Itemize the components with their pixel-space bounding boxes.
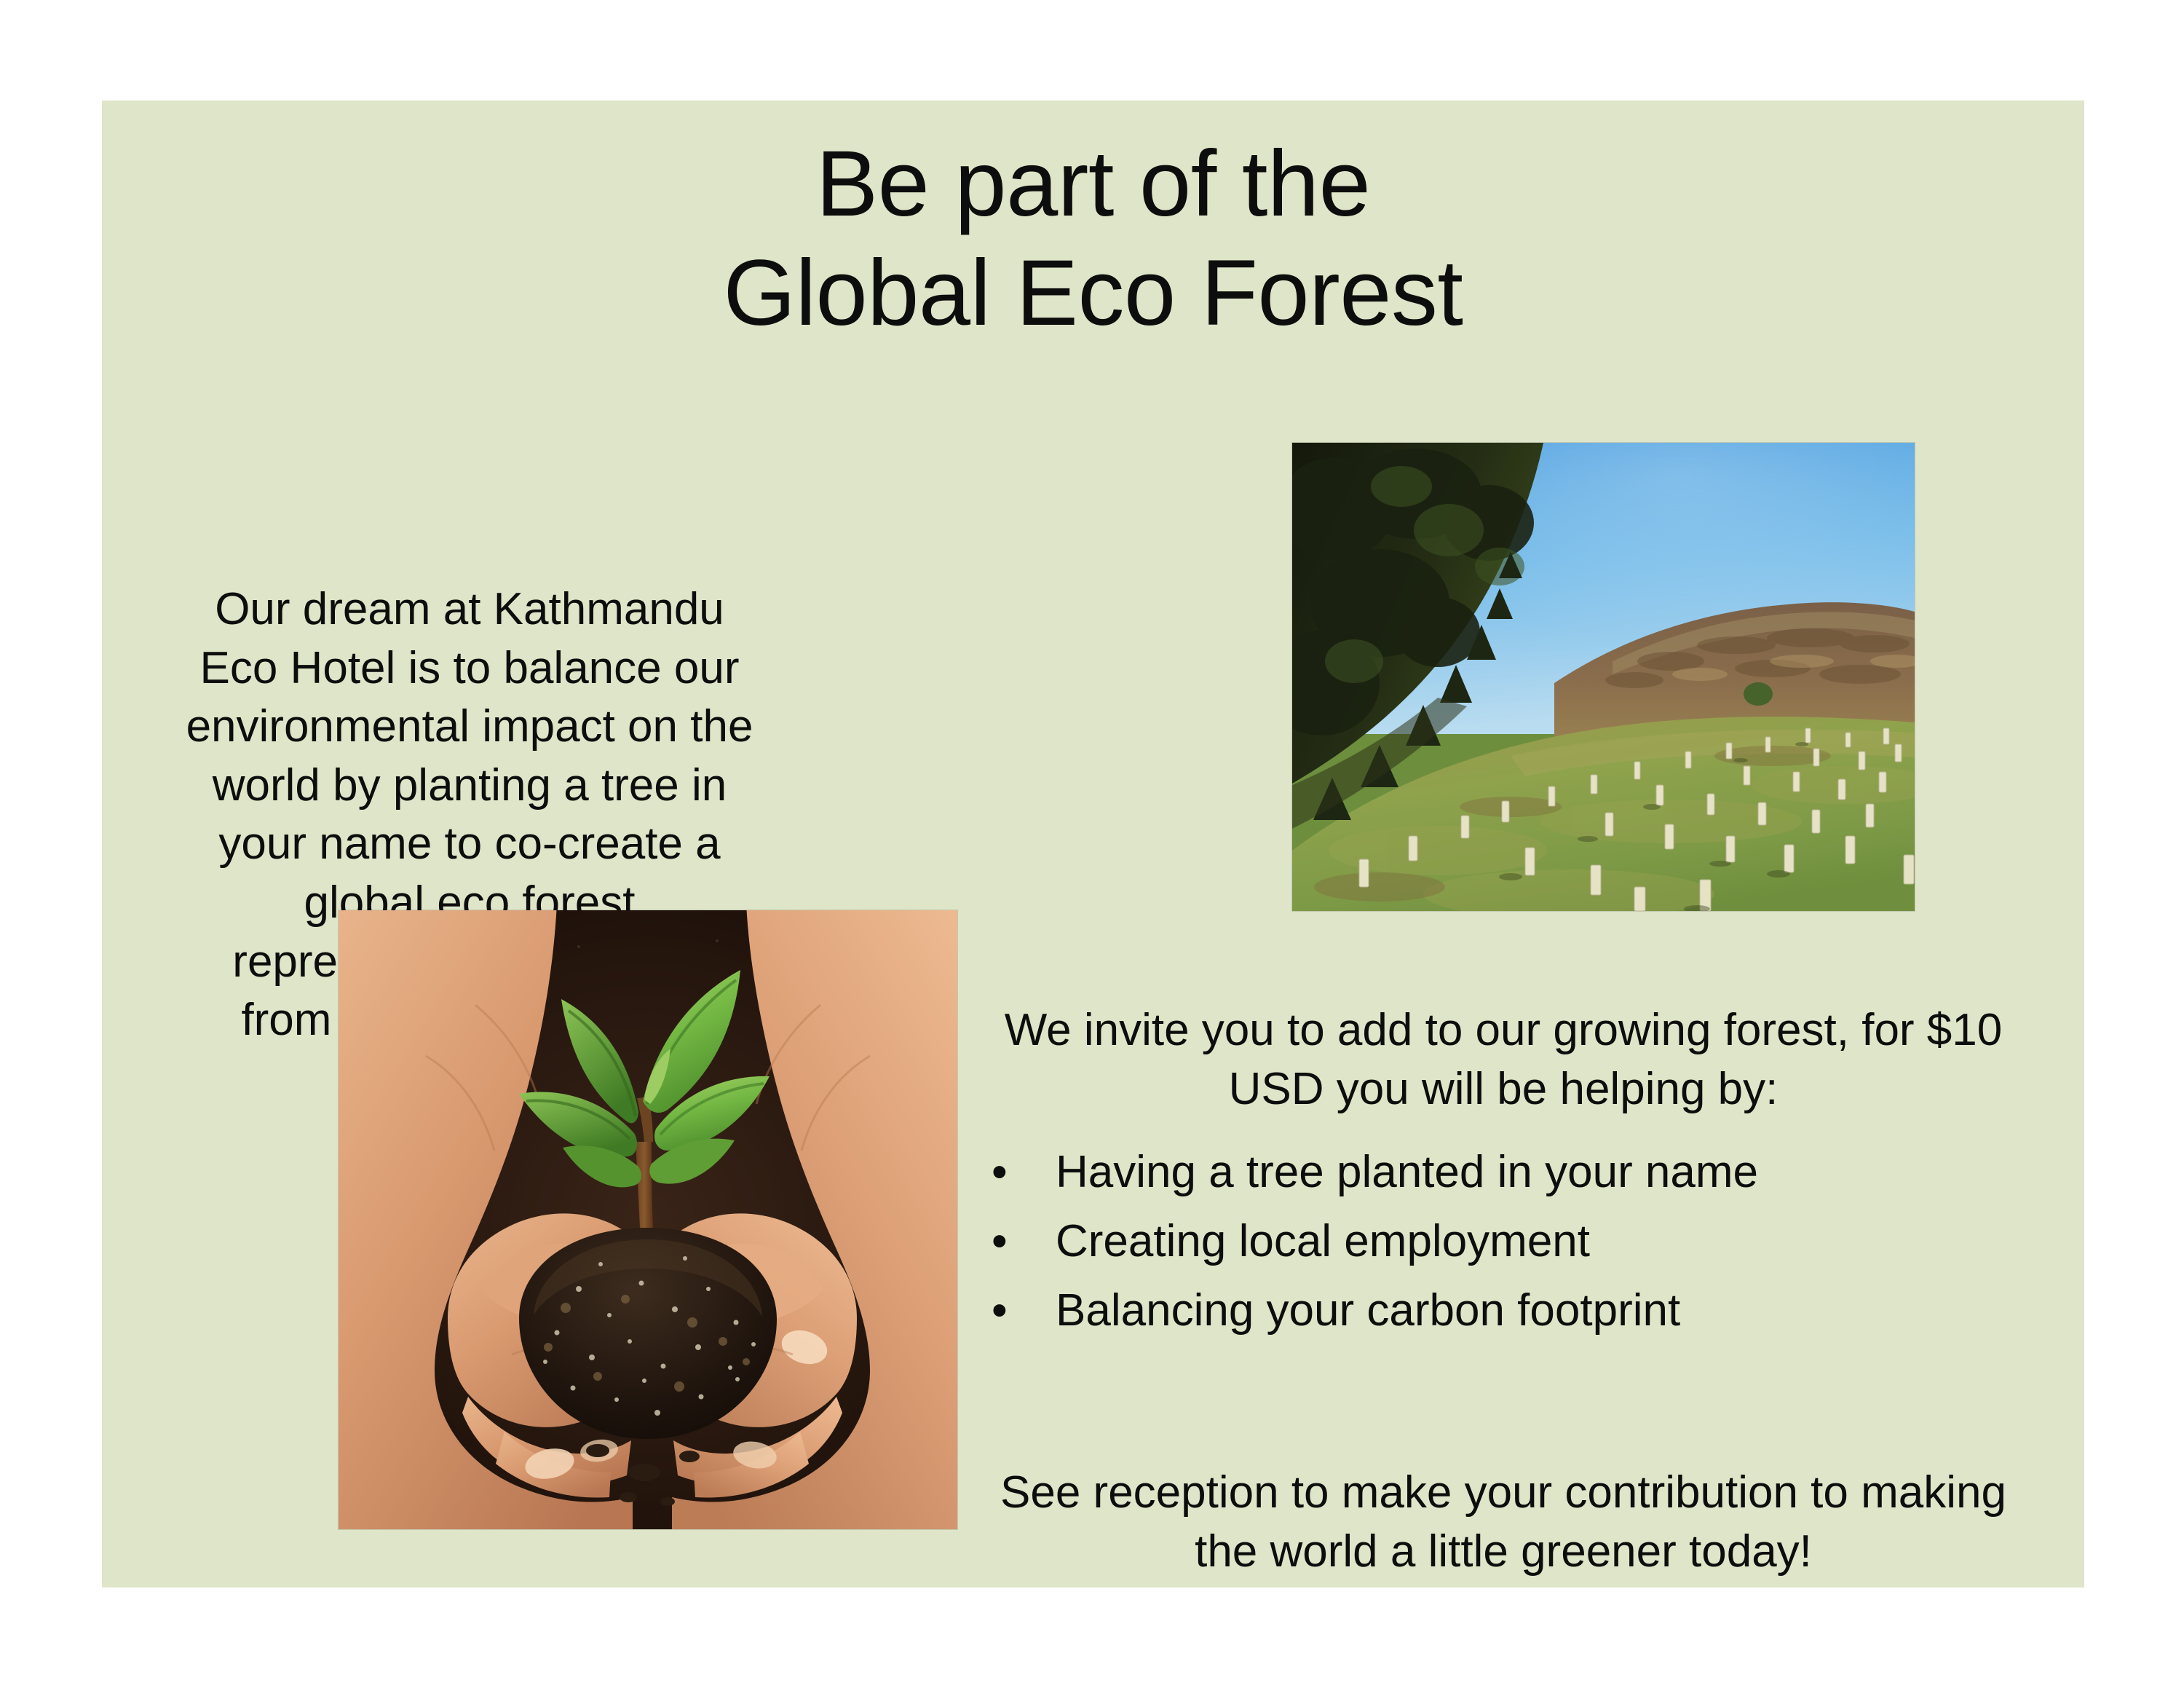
list-item-label: Having a tree planted in your name — [1056, 1147, 1758, 1197]
forest-planting-photo — [1292, 443, 1915, 911]
bullet-icon: • — [992, 1207, 1008, 1277]
hands-photo-artwork — [339, 910, 957, 1529]
bullet-icon: • — [992, 1277, 1008, 1346]
list-item: • Creating local employment — [965, 1207, 2057, 1277]
list-item-label: Creating local employment — [1056, 1216, 1590, 1266]
closing-paragraph: See reception to make your contribution … — [965, 1464, 2042, 1581]
forest-photo-artwork — [1292, 443, 1915, 911]
poster-root: Be part of the Global Eco Forest Our dre… — [0, 0, 2184, 1688]
title-line-1: Be part of the — [102, 130, 2084, 239]
page-title: Be part of the Global Eco Forest — [102, 130, 2084, 348]
list-item: • Balancing your carbon footprint — [965, 1277, 2057, 1346]
list-item: • Having a tree planted in your name — [965, 1138, 2057, 1207]
bullet-icon: • — [992, 1138, 1008, 1207]
poster-panel: Be part of the Global Eco Forest Our dre… — [102, 100, 2084, 1588]
benefits-list: • Having a tree planted in your name • C… — [965, 1138, 2057, 1346]
title-line-2: Global Eco Forest — [102, 239, 2084, 348]
hands-holding-seedling-photo — [339, 910, 957, 1529]
invite-paragraph: We invite you to add to our growing fore… — [965, 1001, 2042, 1119]
list-item-label: Balancing your carbon footprint — [1056, 1285, 1680, 1336]
